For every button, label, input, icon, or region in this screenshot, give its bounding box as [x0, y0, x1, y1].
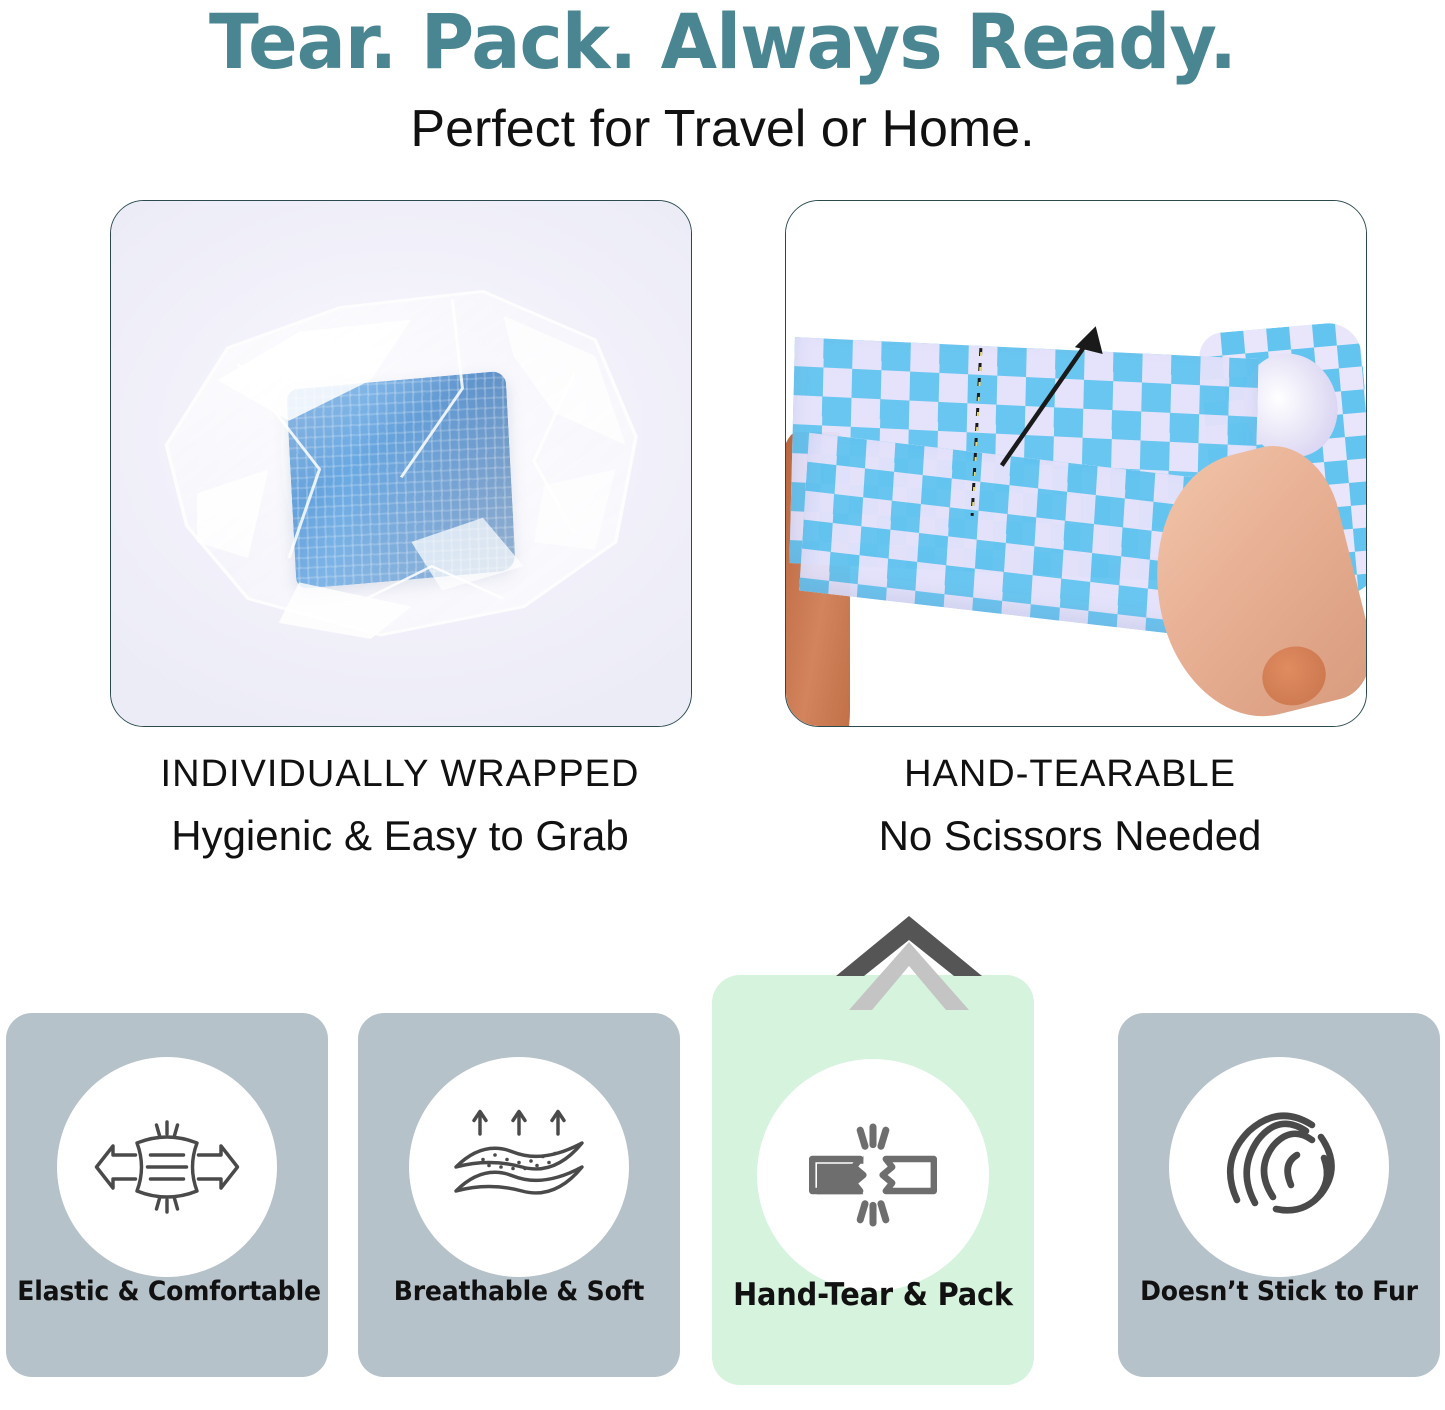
- feature-card-label: Elastic & Comfortable: [17, 1276, 316, 1307]
- feature-card-hand-tear-pack[interactable]: Hand-Tear & Pack: [712, 975, 1034, 1385]
- feature-card-doesnt-stick-to-fur[interactable]: Doesn’t Stick to Fur: [1118, 1013, 1440, 1377]
- torn-strip-icon: [793, 1095, 953, 1255]
- icon-circle: [1169, 1057, 1389, 1277]
- feature-card-label: Breathable & Soft: [369, 1276, 668, 1307]
- feature-card-row: Elastic & Comfortable: [0, 0, 1445, 1410]
- icon-circle: [757, 1059, 989, 1291]
- stretch-arrows-icon: [92, 1092, 242, 1242]
- feature-card-label: Hand-Tear & Pack: [723, 1277, 1022, 1313]
- icon-circle: [57, 1057, 277, 1277]
- feature-card-label: Doesn’t Stick to Fur: [1129, 1276, 1428, 1307]
- feature-card-elastic-comfortable[interactable]: Elastic & Comfortable: [6, 1013, 328, 1377]
- icon-circle: [409, 1057, 629, 1277]
- feature-card-breathable-soft[interactable]: Breathable & Soft: [358, 1013, 680, 1377]
- breathable-layers-icon: [444, 1092, 594, 1242]
- fur-swirl-icon: [1204, 1092, 1354, 1242]
- chevron-up-icon: [836, 916, 982, 1010]
